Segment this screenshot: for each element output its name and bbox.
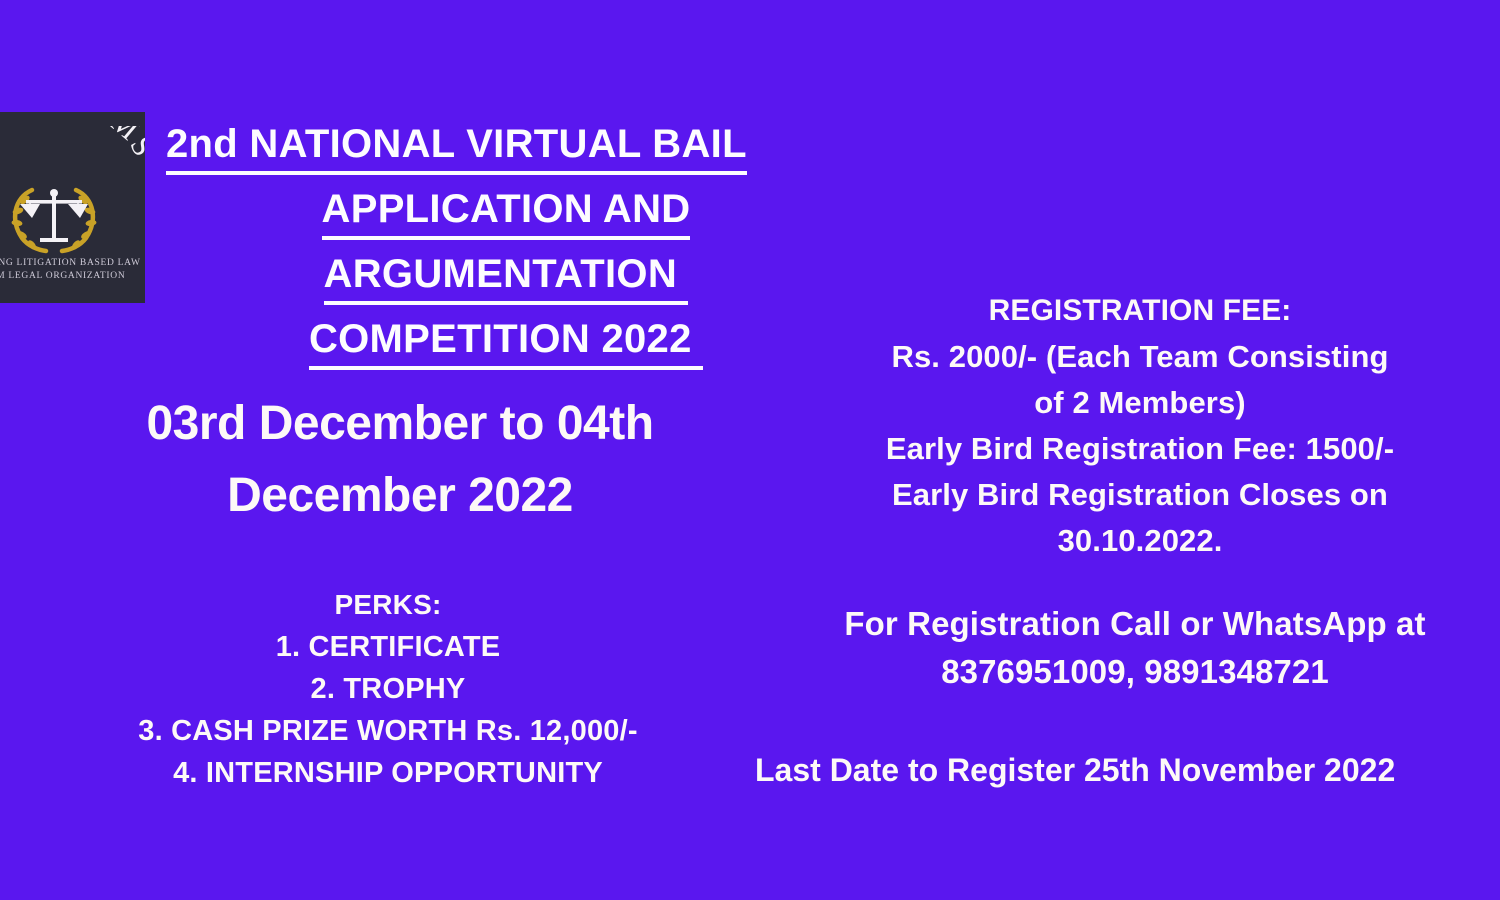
headline-line-3-text: ARGUMENTATION <box>324 251 689 305</box>
headline-line-1: 2nd NATIONAL VIRTUAL BAIL <box>166 112 846 177</box>
svg-text:LEGAL ZEMS: LEGAL ZEMS <box>0 126 145 163</box>
early-bird-fee-text: Early Bird Registration Fee: 1500/- <box>790 426 1490 472</box>
list-item: 4. INTERNSHIP OPPORTUNITY <box>48 752 728 794</box>
last-date-to-register: Last Date to Register 25th November 2022 <box>755 748 1500 792</box>
perks-heading: PERKS: <box>48 584 728 626</box>
registration-fee-section: REGISTRATION FEE: Rs. 2000/- (Each Team … <box>790 288 1490 564</box>
list-item: 3. CASH PRIZE WORTH Rs. 12,000/- <box>48 710 728 752</box>
headline-line-4-text: COMPETITION 2022 <box>309 316 703 370</box>
list-item: 1. CERTIFICATE <box>48 626 728 668</box>
perks-section: PERKS: 1. CERTIFICATE 2. TROPHY 3. CASH … <box>48 584 728 794</box>
headline-line-4: COMPETITION 2022 <box>166 307 846 372</box>
headline-line-1-text: 2nd NATIONAL VIRTUAL BAIL <box>166 121 747 175</box>
early-bird-deadline-text: Early Bird Registration Closes on 30.10.… <box>790 472 1490 564</box>
headline-line-2-text: APPLICATION AND <box>322 186 691 240</box>
contact-section: For Registration Call or WhatsApp at 837… <box>755 600 1500 696</box>
event-dates: 03rd December to 04th December 2022 <box>60 388 740 532</box>
headline-line-2: APPLICATION AND <box>166 177 846 242</box>
organization-logo-badge: LEGAL ZEMS <box>0 112 145 303</box>
list-item: 2. TROPHY <box>48 668 728 710</box>
registration-contact-text: For Registration Call or WhatsApp at 837… <box>755 600 1500 696</box>
event-poster: LEGAL ZEMS <box>0 0 1500 900</box>
logo-brand-text: LEGAL ZEMS <box>0 126 145 163</box>
scales-of-justice-with-laurel-wreath-icon <box>2 180 106 256</box>
logo-tagline: LEADING LITIGATION BASED LAW CUM LEGAL O… <box>0 257 145 283</box>
standard-fee-text: Rs. 2000/- (Each Team Consisting of 2 Me… <box>790 334 1490 426</box>
headline-line-3: ARGUMENTATION <box>166 242 846 307</box>
page-title: 2nd NATIONAL VIRTUAL BAIL APPLICATION AN… <box>166 112 846 372</box>
registration-fee-heading: REGISTRATION FEE: <box>790 288 1490 334</box>
